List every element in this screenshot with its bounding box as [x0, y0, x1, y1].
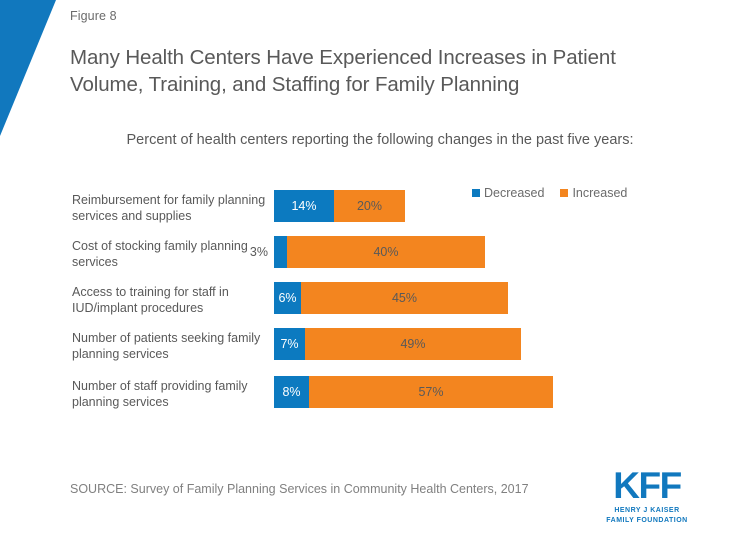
stacked-bar: 14% 20%	[274, 190, 405, 222]
category-label: Reimbursement for family planning servic…	[72, 192, 268, 224]
bar-value-decreased: 14%	[291, 199, 316, 213]
bar-value-increased: 40%	[373, 245, 398, 259]
bar-row: Number of patients seeking family planni…	[0, 328, 735, 374]
bar-segment-decreased[interactable]: 14%	[274, 190, 334, 222]
slide-canvas: Figure 8 Many Health Centers Have Experi…	[0, 0, 735, 551]
bar-segment-increased[interactable]: 57%	[309, 376, 553, 408]
bar-segment-decreased[interactable]: 8%	[274, 376, 309, 408]
category-label: Access to training for staff in IUD/impl…	[72, 284, 268, 316]
source-note: SOURCE: Survey of Family Planning Servic…	[70, 482, 529, 496]
category-label: Cost of stocking family planning service…	[72, 238, 268, 270]
corner-triangle-decoration	[0, 0, 56, 136]
stacked-bar: 6% 45%	[274, 282, 508, 314]
bar-value-increased: 20%	[357, 199, 382, 213]
stacked-bar: 8% 57%	[274, 376, 553, 408]
bar-segment-decreased[interactable]: 6%	[274, 282, 301, 314]
bar-value-decreased: 3%	[250, 245, 268, 259]
stacked-bar: 3% 40%	[274, 236, 485, 268]
figure-label: Figure 8	[70, 9, 117, 23]
bar-row: Cost of stocking family planning service…	[0, 236, 735, 282]
category-label: Number of staff providing family plannin…	[72, 378, 268, 410]
bar-row: Number of staff providing family plannin…	[0, 376, 735, 422]
plot-area: Reimbursement for family planning servic…	[0, 190, 735, 440]
kff-logo-line2: FAMILY FOUNDATION	[597, 516, 697, 526]
page-title: Many Health Centers Have Experienced Inc…	[70, 44, 690, 98]
bar-value-decreased: 8%	[282, 385, 300, 399]
bar-segment-increased[interactable]: 49%	[305, 328, 521, 360]
bar-segment-decreased[interactable]: 7%	[274, 328, 305, 360]
bar-value-increased: 57%	[418, 385, 443, 399]
bar-segment-increased[interactable]: 20%	[334, 190, 405, 222]
bar-row: Reimbursement for family planning servic…	[0, 190, 735, 236]
chart-subtitle: Percent of health centers reporting the …	[110, 130, 650, 151]
bar-value-increased: 49%	[400, 337, 425, 351]
bar-value-decreased: 7%	[280, 337, 298, 351]
bar-segment-increased[interactable]: 40%	[287, 236, 485, 268]
stacked-bar: 7% 49%	[274, 328, 521, 360]
bar-segment-decreased[interactable]: 3%	[274, 236, 287, 268]
kff-logo: KFF HENRY J KAISER FAMILY FOUNDATION	[597, 468, 697, 525]
kff-logo-line1: HENRY J KAISER	[597, 506, 697, 516]
category-label: Number of patients seeking family planni…	[72, 330, 268, 362]
bar-value-increased: 45%	[392, 291, 417, 305]
chart-container: Percent of health centers reporting the …	[0, 124, 735, 454]
bar-row: Access to training for staff in IUD/impl…	[0, 282, 735, 328]
bar-segment-increased[interactable]: 45%	[301, 282, 508, 314]
bar-value-decreased: 6%	[278, 291, 296, 305]
kff-logo-mark: KFF	[597, 468, 697, 504]
